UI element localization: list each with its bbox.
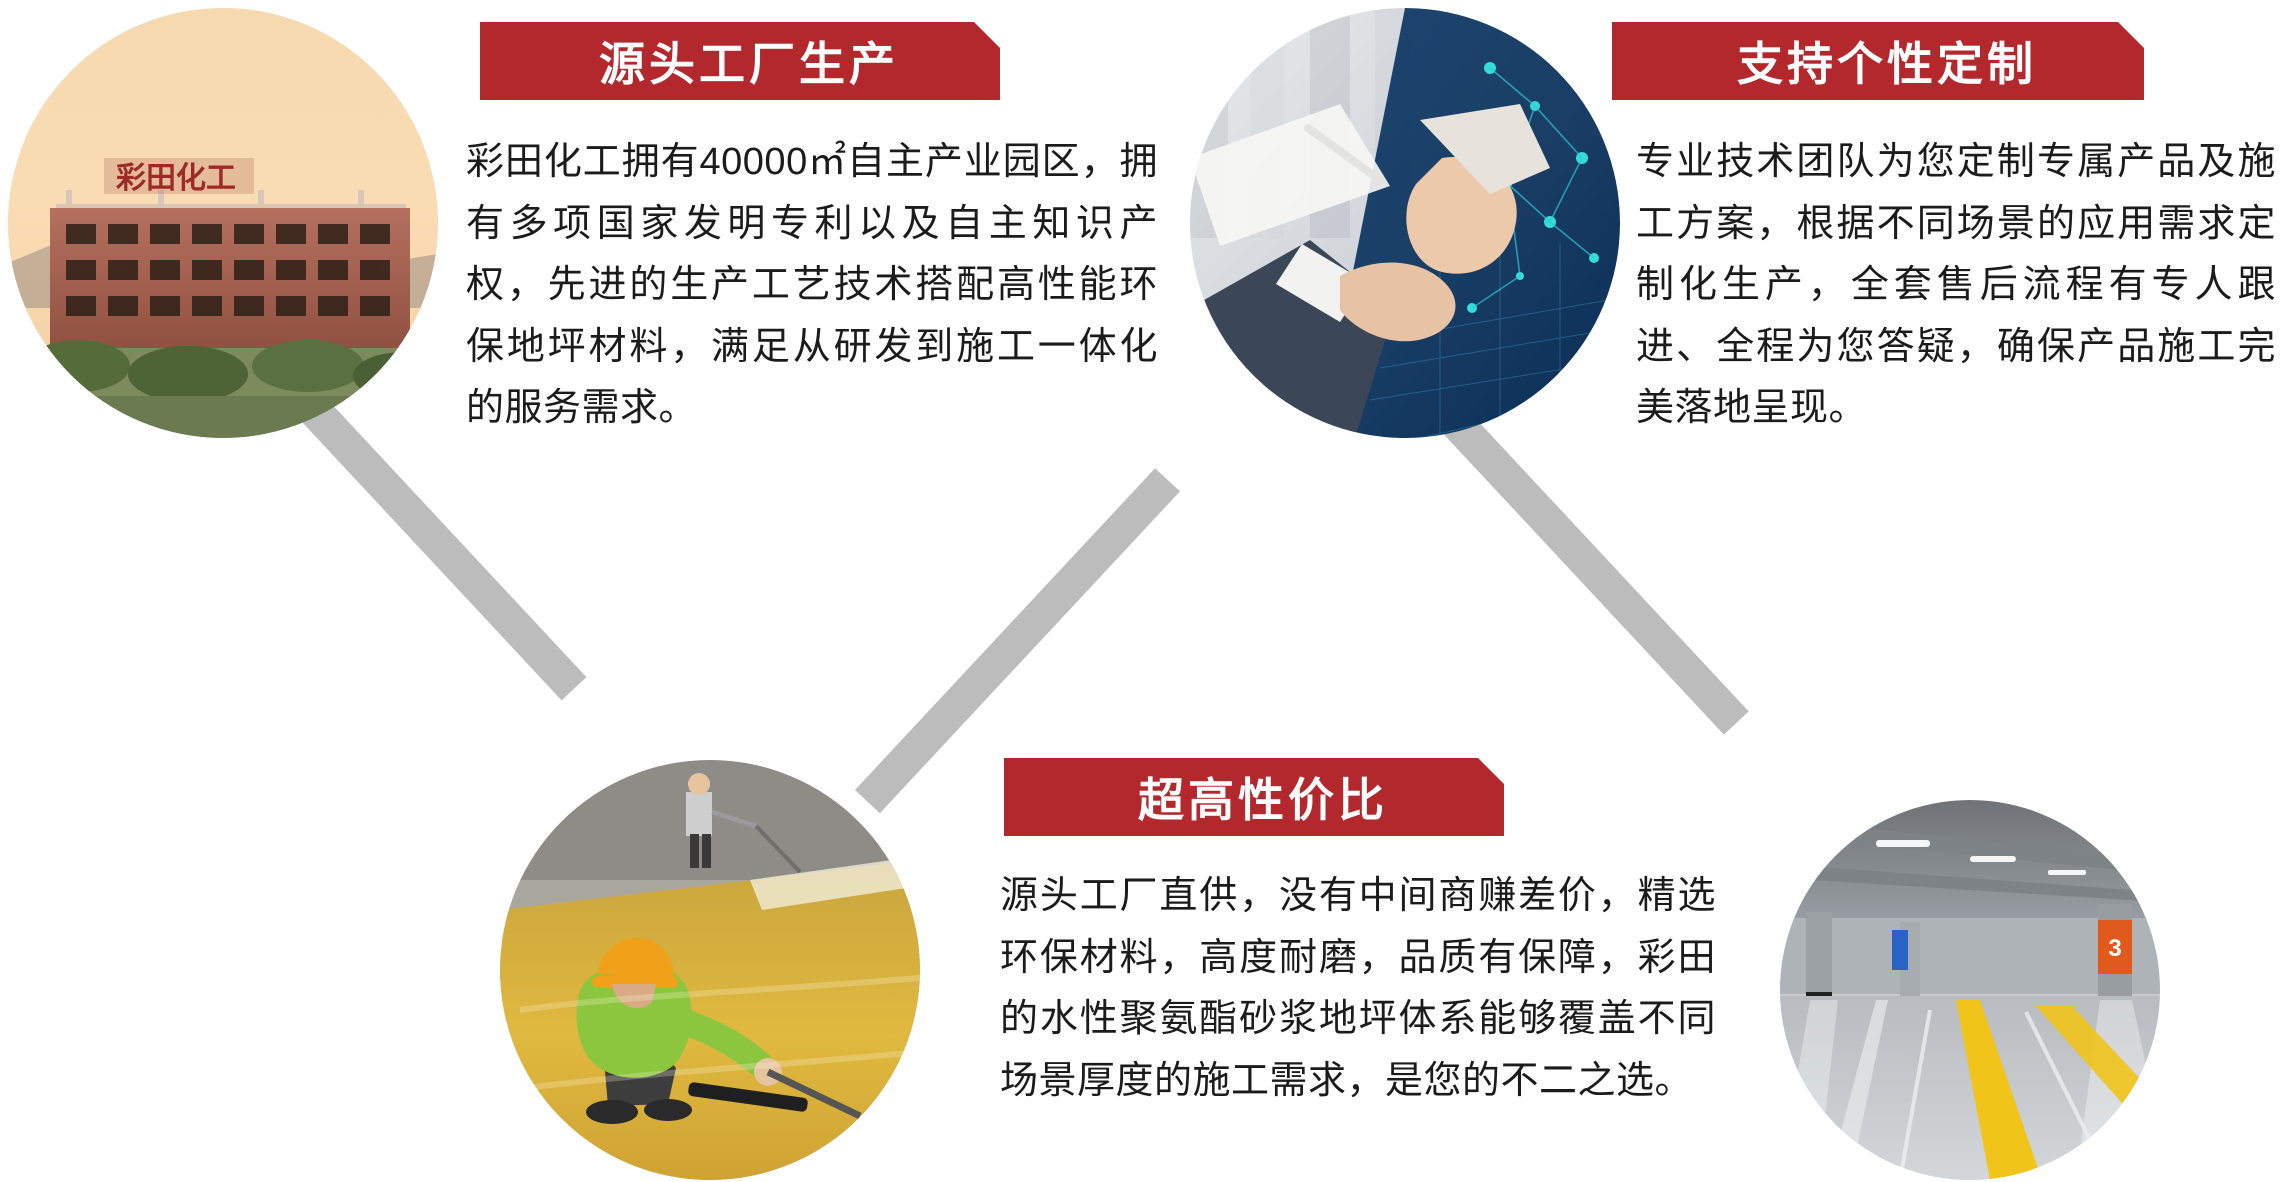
banner-custom-support: 支持个性定制: [1612, 22, 2144, 100]
garage-zone-number: 3: [2108, 935, 2121, 962]
infographic-stage: 彩田化工: [0, 0, 2284, 1182]
worker-applying-epoxy-floor-photo: [500, 760, 920, 1180]
feature-image-custom-support: [1190, 8, 1620, 438]
body-text-cost-performance: 源头工厂直供，没有中间商赚差价，精选环保材料，高度耐磨，品质有保障，彩田的水性聚…: [1000, 866, 1716, 1112]
parking-garage-floor-photo: 3: [1780, 800, 2160, 1180]
factory-building-photo: 彩田化工: [8, 8, 438, 438]
handshake-photo: [1190, 8, 1620, 438]
feature-image-parking-garage: 3: [1780, 800, 2160, 1180]
banner-cost-performance: 超高性价比: [1004, 758, 1504, 836]
banner-source-factory: 源头工厂生产: [480, 22, 1000, 100]
banner-label: 超高性价比: [1138, 764, 1388, 830]
banner-label: 源头工厂生产: [599, 28, 899, 94]
feature-image-source-factory: 彩田化工: [8, 8, 438, 438]
body-text-custom-support: 专业技术团队为您定制专属产品及施工方案，根据不同场景的应用需求定制化生产，全套售…: [1636, 132, 2276, 440]
body-text-source-factory: 彩田化工拥有40000㎡自主产业园区，拥有多项国家发明专利以及自主知识产权，先进…: [466, 132, 1158, 440]
svg-text:彩田化工: 彩田化工: [116, 162, 236, 195]
feature-image-cost-performance: [500, 760, 920, 1180]
banner-label: 支持个性定制: [1737, 28, 2037, 94]
